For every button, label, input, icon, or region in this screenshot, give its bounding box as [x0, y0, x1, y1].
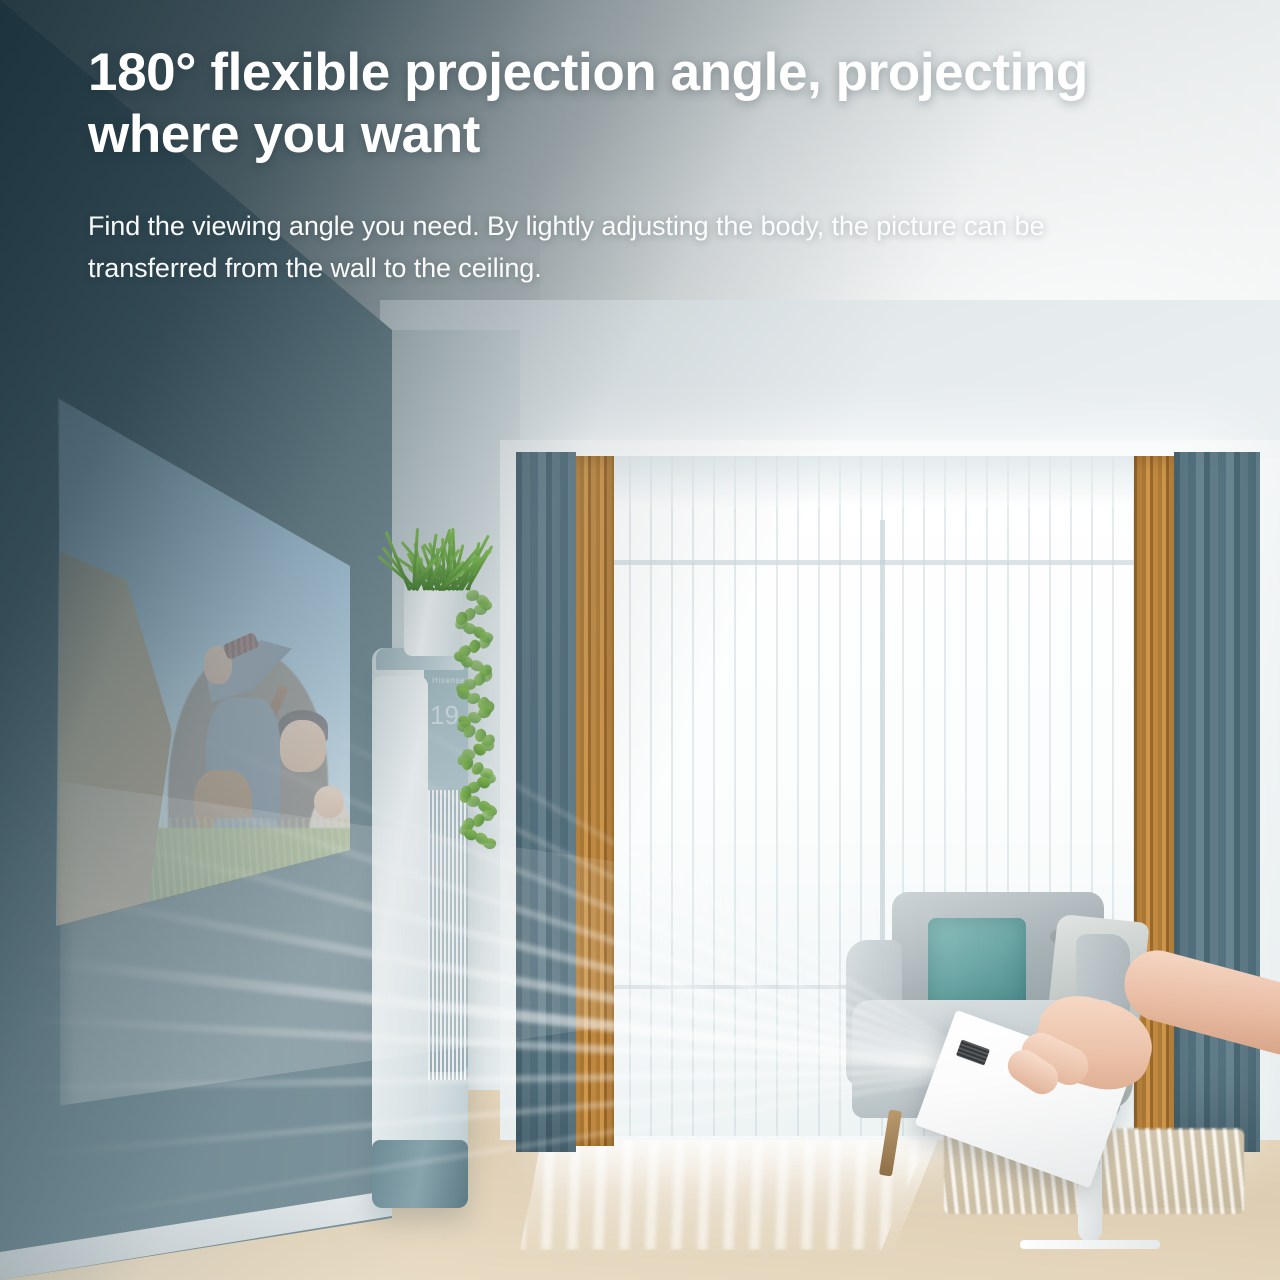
projector-stand-base [1020, 1240, 1160, 1249]
headline-text: 180° flexible projection angle, projecti… [88, 42, 1168, 166]
wood-slat-trim-left [572, 456, 614, 1146]
air-conditioner-front-panel [372, 676, 428, 1176]
drape-curtain-right [1174, 452, 1260, 1152]
teal-cushion [928, 918, 1026, 1010]
air-conditioner-base [372, 1140, 468, 1208]
curtain-valance [566, 456, 1216, 508]
marketing-copy-block: 180° flexible projection angle, projecti… [88, 42, 1178, 290]
product-feature-banner: Hisense 19 180° flexible projection angl… [0, 0, 1280, 1280]
trailing-vine-plant [452, 590, 498, 850]
subheadline-text: Find the viewing angle you need. By ligh… [88, 206, 1098, 290]
potted-grass-plant [396, 524, 474, 590]
drape-curtain-left [516, 452, 576, 1152]
vine-leaf [482, 836, 498, 851]
